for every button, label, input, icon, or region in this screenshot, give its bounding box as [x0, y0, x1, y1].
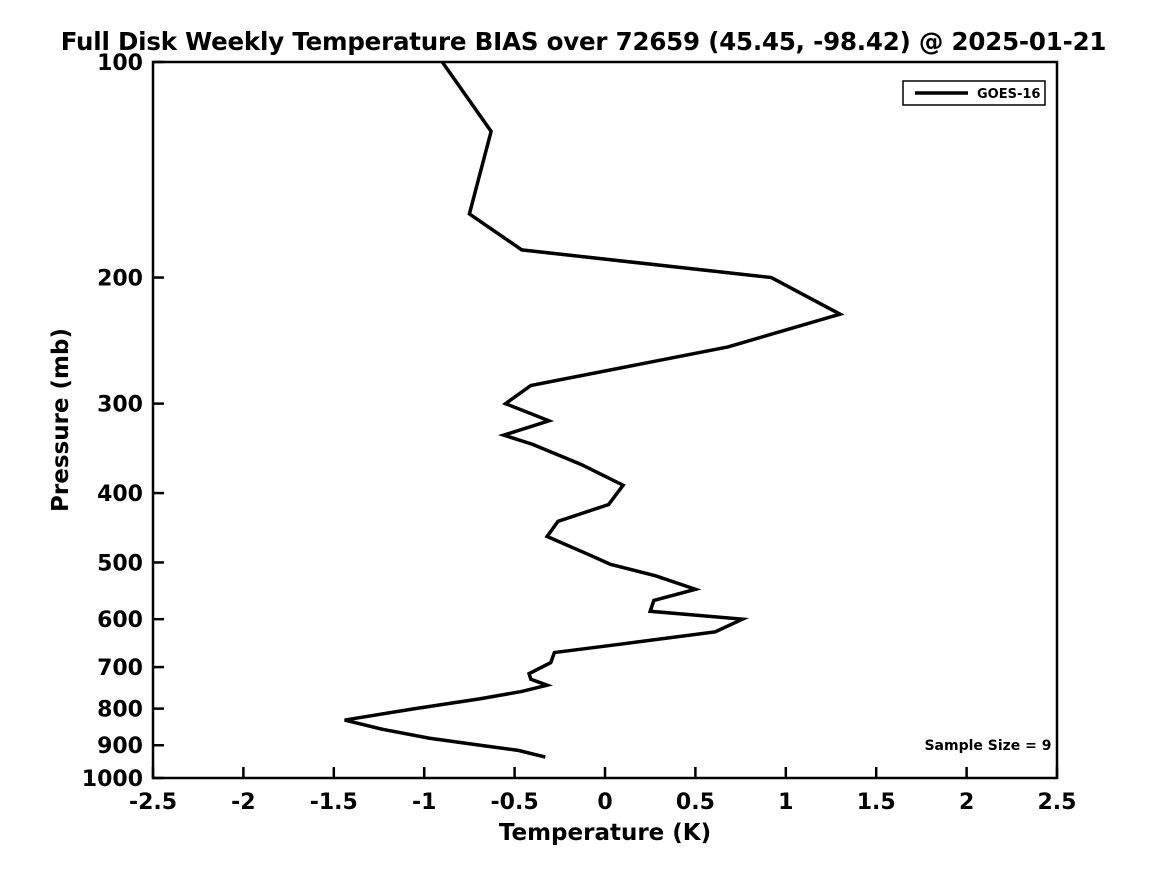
x-tick-label: 0.5 [676, 790, 715, 815]
axis-frame [153, 62, 1057, 778]
x-axis-label: Temperature (K) [499, 820, 711, 846]
x-tick-label: 0 [597, 790, 612, 815]
y-tick-label: 500 [97, 551, 143, 576]
y-tick-label: 800 [97, 698, 143, 723]
y-axis-ticks: 1002003004005006007008009001000 [82, 51, 164, 792]
x-tick-label: 1 [778, 790, 793, 815]
legend[interactable]: GOES-16 [903, 81, 1045, 105]
x-tick-label: 2 [959, 790, 974, 815]
sample-size-annotation: Sample Size = 9 [924, 738, 1051, 754]
y-tick-label: 600 [97, 608, 143, 633]
x-tick-label: -2 [231, 790, 255, 815]
x-tick-label: -1.5 [310, 790, 358, 815]
y-tick-label: 1000 [82, 767, 143, 792]
y-tick-label: 400 [97, 482, 143, 507]
y-tick-label: 300 [97, 393, 143, 418]
chart-page: Full Disk Weekly Temperature BIAS over 7… [0, 0, 1167, 875]
y-tick-label: 700 [97, 656, 143, 681]
y-tick-label: 900 [97, 734, 143, 759]
legend-label-goes16: GOES-16 [977, 87, 1040, 102]
x-tick-label: -2.5 [129, 790, 177, 815]
plot-area: -2.5-2-1.5-1-0.500.511.522.5 10020030040… [0, 0, 1167, 875]
x-tick-label: -1 [412, 790, 436, 815]
y-tick-label: 200 [97, 267, 143, 292]
y-axis-label: Pressure (mb) [48, 328, 74, 512]
x-tick-label: 1.5 [857, 790, 896, 815]
x-tick-label: 2.5 [1038, 790, 1077, 815]
y-tick-label: 100 [97, 51, 143, 76]
data-series-group [345, 62, 840, 757]
x-tick-label: -0.5 [491, 790, 539, 815]
x-axis-ticks: -2.5-2-1.5-1-0.500.511.522.5 [129, 767, 1077, 815]
data-line-goes-16 [345, 62, 840, 757]
